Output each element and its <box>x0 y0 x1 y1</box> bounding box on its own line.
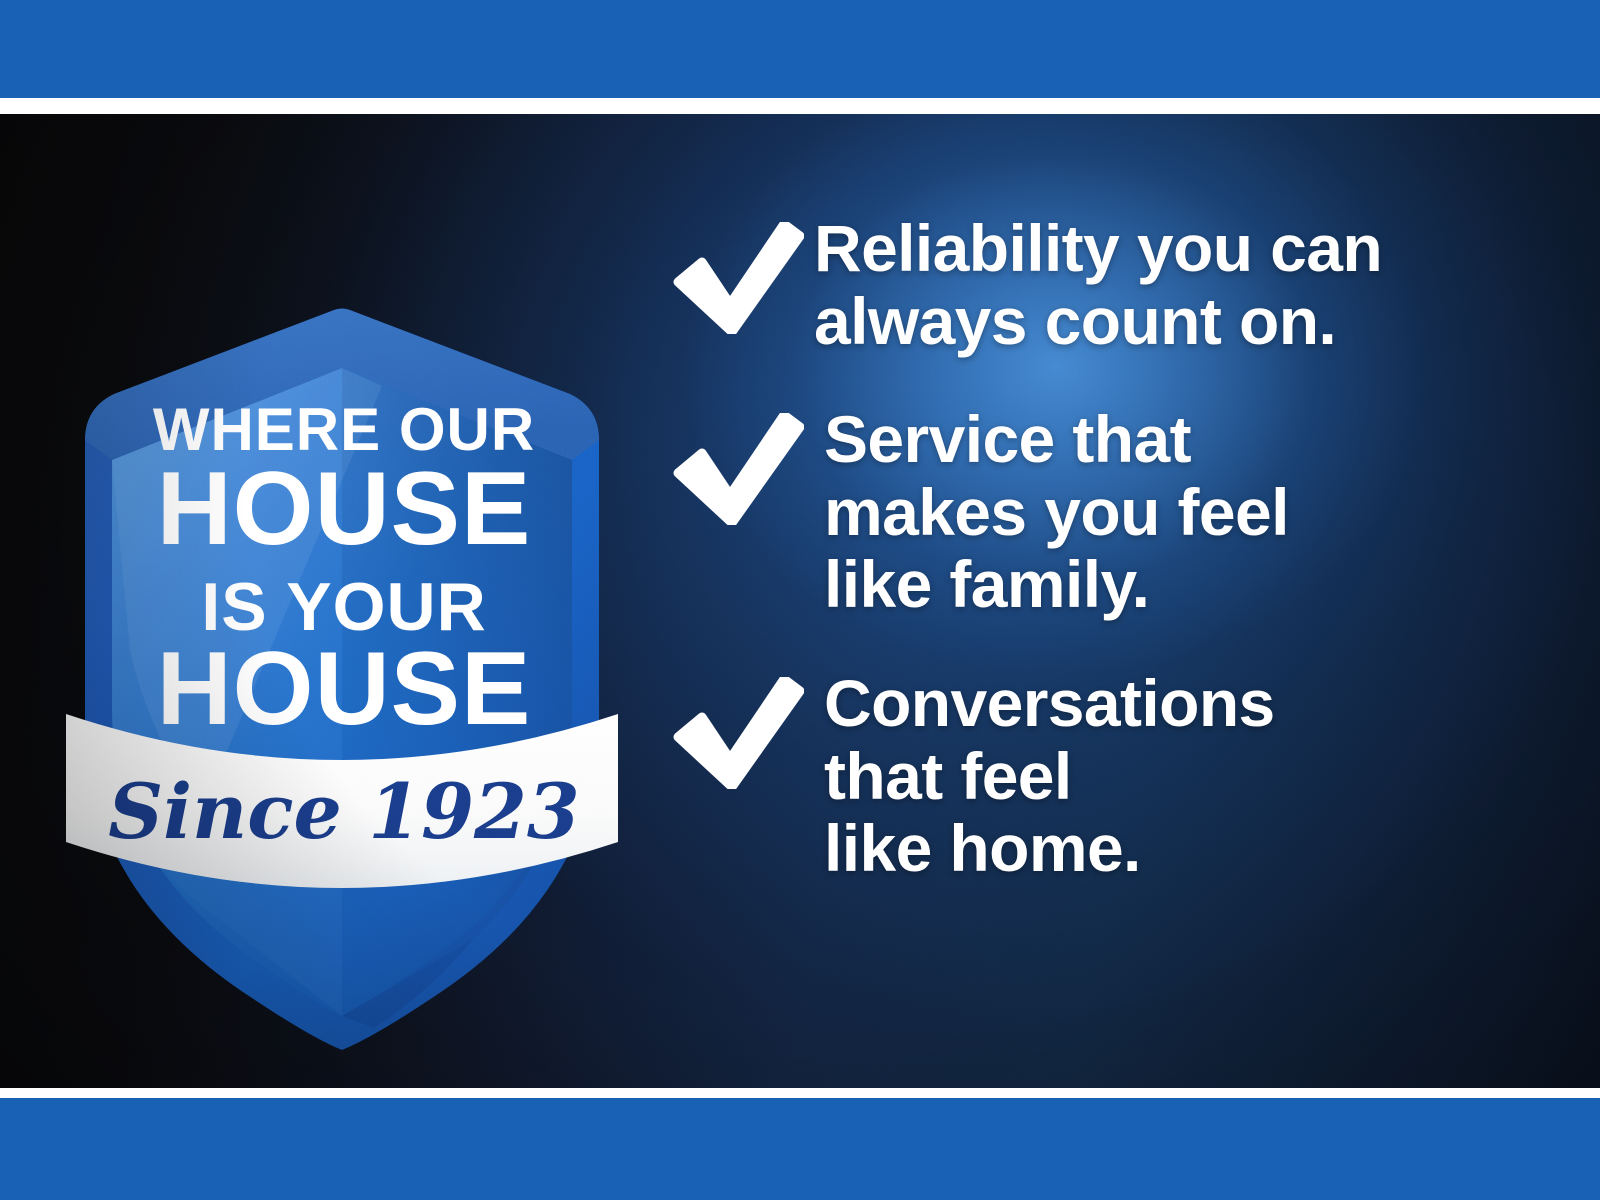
benefit-text: Reliability you can always count on. <box>814 212 1552 357</box>
bottom-brand-bar <box>0 1098 1600 1200</box>
check-icon <box>672 413 804 525</box>
check-icon <box>672 677 804 789</box>
ribbon-label: Since 1923 <box>108 767 580 856</box>
promo-poster: WHERE OUR HOUSE IS YOUR HOUSE Since 1923 <box>0 0 1600 1200</box>
poster-canvas: WHERE OUR HOUSE IS YOUR HOUSE Since 1923 <box>0 114 1600 1088</box>
benefits-list: Reliability you can always count on. Ser… <box>672 212 1552 885</box>
shield-line-2: HOUSE <box>157 451 532 567</box>
benefit-item: Service that makes you feel like family. <box>672 403 1552 621</box>
benefit-text: Service that makes you feel like family. <box>824 403 1552 621</box>
check-icon <box>672 222 804 334</box>
shield-emblem: WHERE OUR HOUSE IS YOUR HOUSE Since 1923 <box>52 290 632 1080</box>
shield-text-lockup: WHERE OUR HOUSE IS YOUR HOUSE <box>153 396 535 747</box>
benefit-item: Conversations that feel like home. <box>672 667 1552 885</box>
benefit-item: Reliability you can always count on. <box>672 212 1552 357</box>
top-brand-bar <box>0 0 1600 98</box>
shield-line-4: HOUSE <box>157 631 532 747</box>
benefit-text: Conversations that feel like home. <box>824 667 1552 885</box>
